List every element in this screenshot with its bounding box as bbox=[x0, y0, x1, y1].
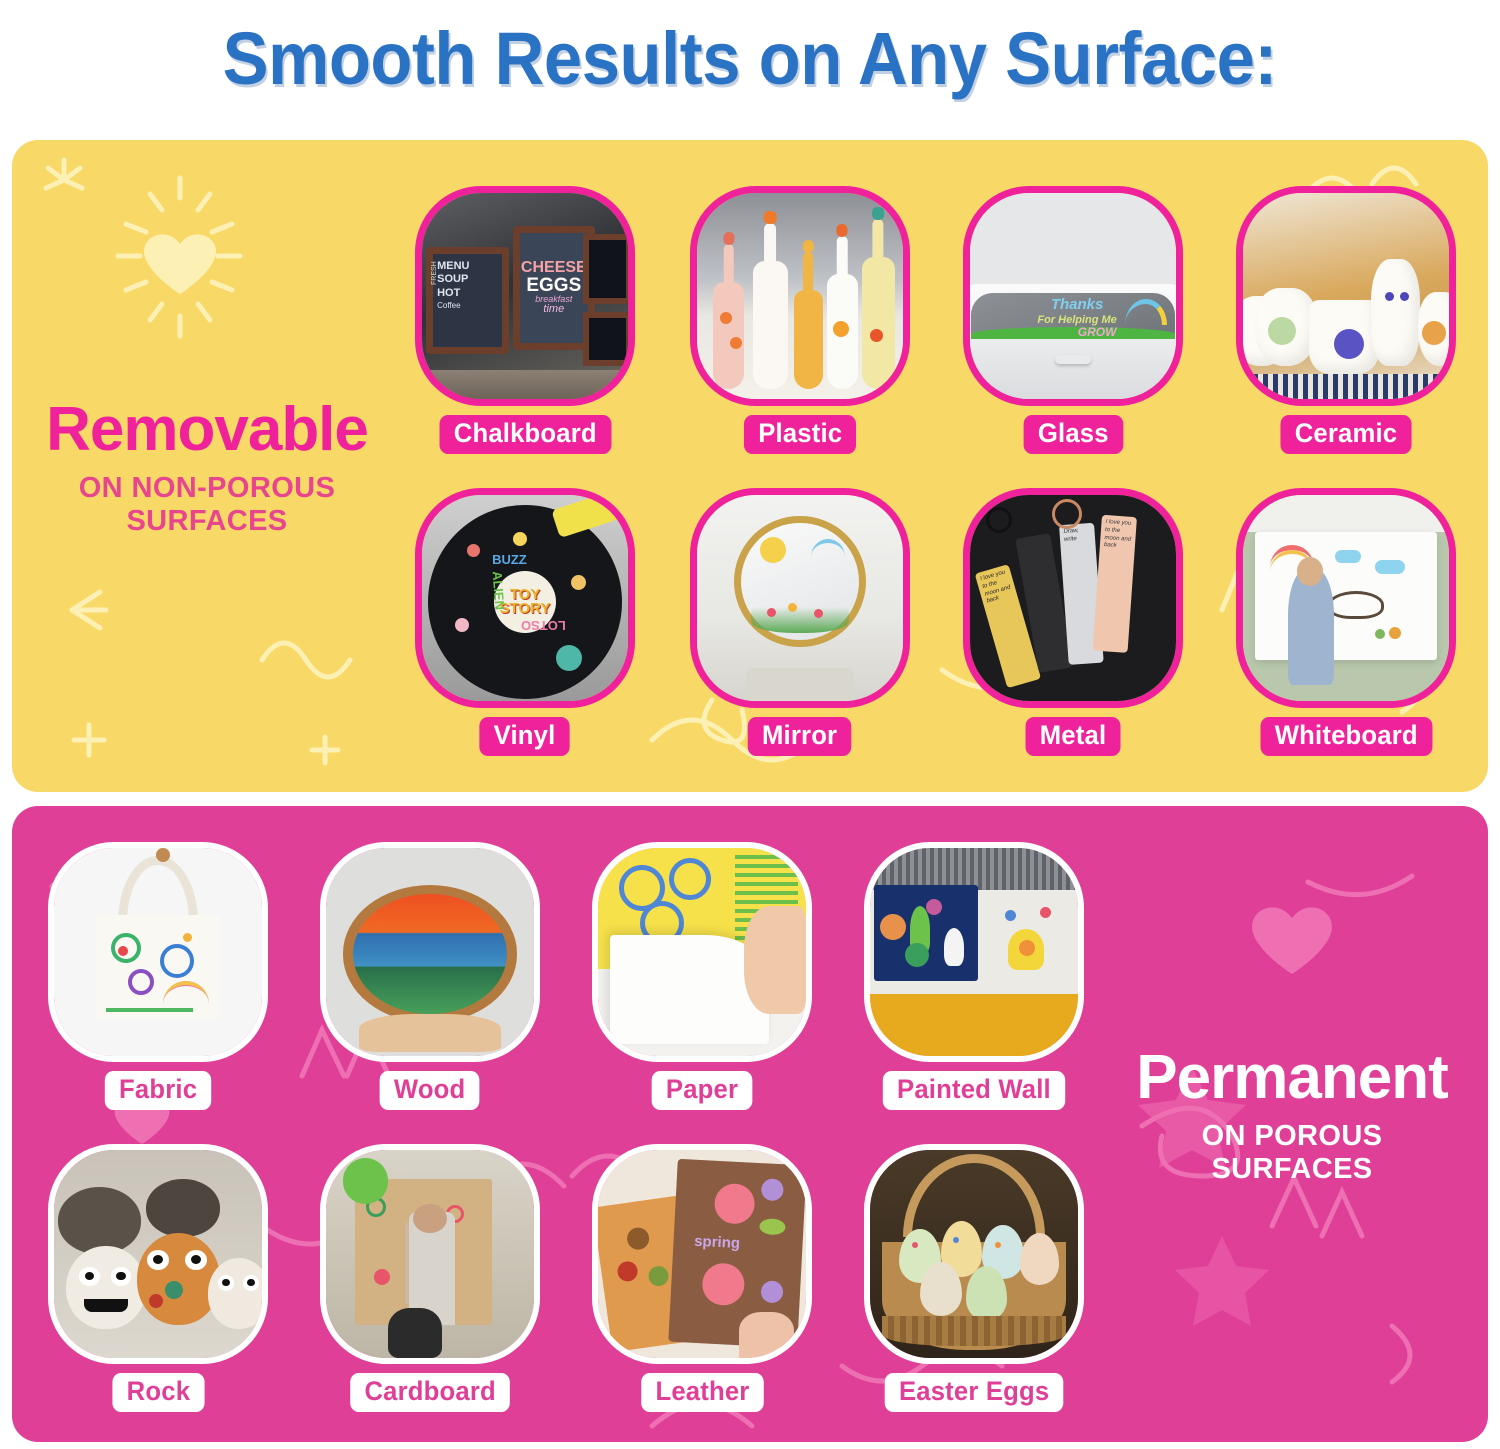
tile-photo-rock bbox=[48, 1144, 268, 1364]
page-title: Smooth Results on Any Surface: bbox=[223, 22, 1277, 96]
chalkboard-fresh-text: FRESH bbox=[431, 261, 438, 285]
metal-tag-moon-2: I love you to the moon and back bbox=[1097, 519, 1133, 649]
tile-label-plastic: Plastic bbox=[744, 415, 857, 454]
chalkboard-cheese-text: CHEESE bbox=[521, 260, 587, 276]
tile-painted-wall[interactable]: Painted Wall bbox=[864, 842, 1084, 1110]
leather-spring-text: spring bbox=[694, 1233, 741, 1252]
tile-label-cardboard: Cardboard bbox=[350, 1373, 510, 1412]
chalkboard-time-text: time bbox=[543, 304, 564, 315]
tile-metal[interactable]: I love you to the moon and back 49°34'56… bbox=[963, 488, 1183, 756]
tile-label-fabric: Fabric bbox=[105, 1071, 212, 1110]
section-heading-removable: Removable ON NON-POROUS SURFACES bbox=[6, 398, 408, 537]
chalkboard-coffee-text: Coffee bbox=[437, 301, 497, 311]
tile-photo-ceramic bbox=[1236, 186, 1456, 406]
tile-photo-wood bbox=[320, 842, 540, 1062]
tile-photo-fabric bbox=[48, 842, 268, 1062]
tile-fabric[interactable]: Fabric bbox=[48, 842, 268, 1110]
tile-photo-painted-wall bbox=[864, 842, 1084, 1062]
tile-paper[interactable]: Paper bbox=[592, 842, 812, 1110]
tile-ceramic[interactable]: Ceramic bbox=[1236, 186, 1456, 454]
tile-photo-paper bbox=[592, 842, 812, 1062]
tile-label-rock: Rock bbox=[112, 1373, 204, 1412]
tile-whiteboard[interactable]: Whiteboard bbox=[1236, 488, 1456, 756]
tile-plastic[interactable]: Plastic bbox=[690, 186, 910, 454]
tile-photo-plastic bbox=[690, 186, 910, 406]
tile-photo-mirror bbox=[690, 488, 910, 708]
tile-label-wood: Wood bbox=[380, 1071, 480, 1110]
section-heading-permanent: Permanent ON POROUS SURFACES bbox=[1092, 1046, 1492, 1185]
vinyl-buzz-text: BUZZ bbox=[492, 552, 527, 567]
tile-label-glass: Glass bbox=[1023, 415, 1122, 454]
tile-cardboard[interactable]: Cardboard bbox=[320, 1144, 540, 1412]
tile-photo-leather: spring bbox=[592, 1144, 812, 1364]
tile-glass[interactable]: Thanks For Helping Me GROW Glass bbox=[963, 186, 1183, 454]
chalkboard-soup-text: SOUP bbox=[437, 273, 497, 287]
permanent-title: Permanent bbox=[1092, 1046, 1492, 1110]
removable-subtitle-line2: SURFACES bbox=[126, 505, 287, 537]
tile-rock[interactable]: Rock bbox=[48, 1144, 268, 1412]
tile-label-metal: Metal bbox=[1025, 717, 1120, 756]
chalkboard-eggs-text: EGGS bbox=[526, 276, 581, 295]
tile-photo-metal: I love you to the moon and back 49°34'56… bbox=[963, 488, 1183, 708]
permanent-subtitle: ON POROUS SURFACES bbox=[1092, 1120, 1492, 1185]
removable-subtitle: ON NON-POROUS SURFACES bbox=[6, 472, 408, 537]
tile-label-easter-eggs: Easter Eggs bbox=[885, 1373, 1064, 1412]
tile-label-chalkboard: Chalkboard bbox=[439, 415, 611, 454]
tile-mirror[interactable]: Mirror bbox=[690, 488, 910, 756]
tile-label-paper: Paper bbox=[652, 1071, 753, 1110]
chalkboard-hot-text: HOT bbox=[437, 287, 497, 301]
tile-label-mirror: Mirror bbox=[748, 717, 852, 756]
tile-leather[interactable]: spring Leather bbox=[592, 1144, 812, 1412]
permanent-subtitle-line2: SURFACES bbox=[1211, 1153, 1372, 1185]
vinyl-alien-text: ALIEN bbox=[489, 570, 507, 610]
tile-photo-glass: Thanks For Helping Me GROW bbox=[963, 186, 1183, 406]
glass-grow-text: GROW bbox=[1031, 326, 1163, 339]
tile-photo-vinyl: TOY STORY BUZZ ALIEN LOTSO bbox=[415, 488, 635, 708]
permanent-subtitle-line1: ON POROUS bbox=[1202, 1120, 1383, 1152]
tile-wood[interactable]: Wood bbox=[320, 842, 540, 1110]
tile-label-whiteboard: Whiteboard bbox=[1260, 717, 1431, 756]
tile-photo-chalkboard: MENU SOUP HOT Coffee FRESH CHEESE EGGS b… bbox=[415, 186, 635, 406]
tile-photo-easter-eggs bbox=[864, 1144, 1084, 1364]
tile-label-painted-wall: Painted Wall bbox=[883, 1071, 1065, 1110]
tile-label-vinyl: Vinyl bbox=[480, 717, 570, 756]
vinyl-lotso-text: LOTSO bbox=[521, 618, 566, 633]
tile-chalkboard[interactable]: MENU SOUP HOT Coffee FRESH CHEESE EGGS b… bbox=[415, 186, 635, 454]
tile-easter-eggs[interactable]: Easter Eggs bbox=[864, 1144, 1084, 1412]
chalkboard-menu-text: MENU bbox=[437, 260, 497, 274]
removable-title: Removable bbox=[6, 398, 408, 462]
tile-label-leather: Leather bbox=[641, 1373, 763, 1412]
tile-photo-cardboard bbox=[320, 1144, 540, 1364]
tile-label-ceramic: Ceramic bbox=[1280, 415, 1411, 454]
tile-photo-whiteboard bbox=[1236, 488, 1456, 708]
tile-vinyl[interactable]: TOY STORY BUZZ ALIEN LOTSO Vinyl bbox=[415, 488, 635, 756]
removable-subtitle-line1: ON NON-POROUS bbox=[79, 472, 336, 504]
page-header: Smooth Results on Any Surface: bbox=[0, 0, 1500, 112]
